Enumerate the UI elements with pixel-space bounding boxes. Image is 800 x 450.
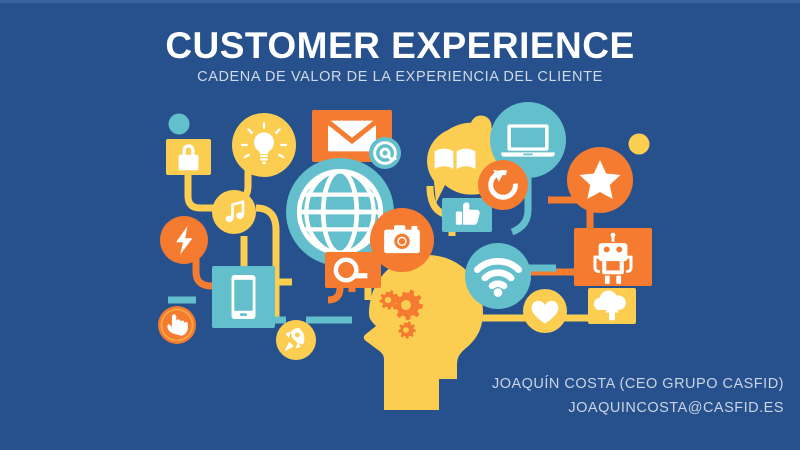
smartphone-icon	[212, 266, 275, 328]
wifi-icon	[465, 243, 531, 309]
credit-author: JOAQUÍN COSTA (CEO GRUPO CASFID)	[492, 372, 784, 396]
magnifier-icon	[325, 252, 381, 288]
slide-canvas: CUSTOMER EXPERIENCE CADENA DE VALOR DE L…	[0, 0, 800, 450]
at-sign-icon	[369, 137, 401, 169]
credit-email: JOAQUINCOSTA@CASFID.ES	[492, 396, 784, 420]
credit-block: JOAQUÍN COSTA (CEO GRUPO CASFID) JOAQUIN…	[492, 372, 784, 420]
star-icon	[567, 147, 633, 213]
rocket-icon	[276, 320, 316, 360]
lightbulb-icon	[232, 113, 296, 177]
cloud-upload-icon	[588, 288, 636, 324]
camera-icon	[370, 208, 434, 272]
lightning-bolt-icon	[160, 216, 208, 264]
page-subtitle: CADENA DE VALOR DE LA EXPERIENCIA DEL CL…	[0, 68, 800, 86]
thumbs-up-icon	[442, 198, 492, 232]
teal-dot	[169, 114, 190, 135]
head-profile-gears-icon	[364, 240, 483, 410]
padlock-icon	[166, 139, 211, 175]
hand-cursor-icon	[158, 306, 196, 344]
page-title: CUSTOMER EXPERIENCE	[0, 24, 800, 68]
music-note-icon	[212, 190, 256, 234]
refresh-icon	[478, 160, 528, 210]
heart-icon	[523, 289, 567, 333]
yellow-dot-right	[629, 134, 650, 155]
robot-icon	[574, 228, 652, 286]
